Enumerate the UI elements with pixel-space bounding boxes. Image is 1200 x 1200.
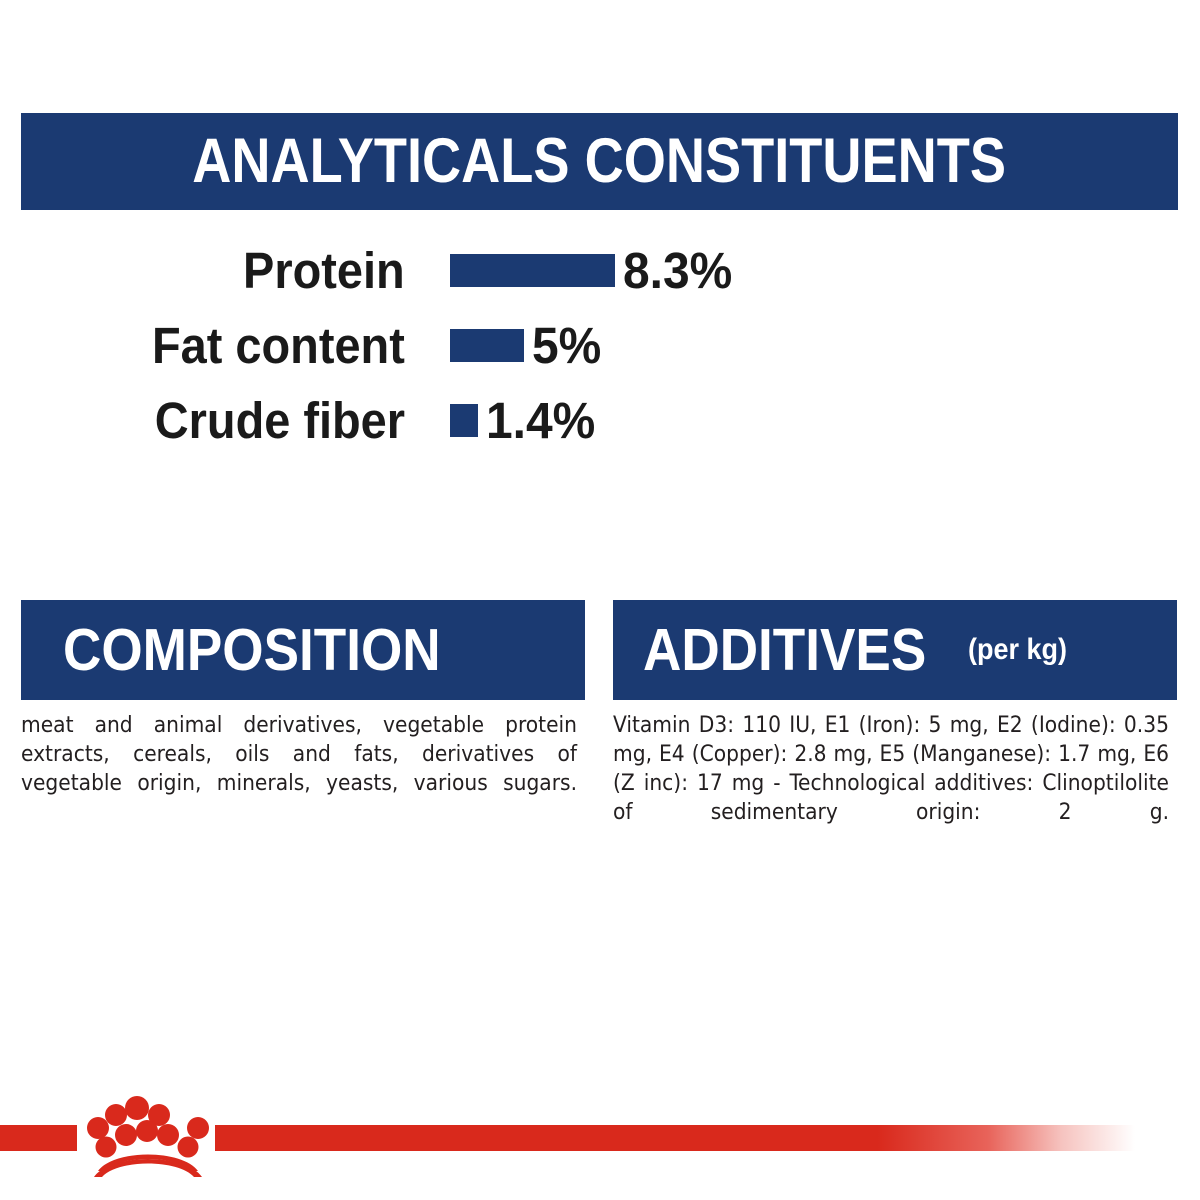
- composition-panel: COMPOSITION meat and animal derivatives,…: [21, 600, 585, 856]
- composition-title: COMPOSITION: [63, 621, 441, 680]
- nutrient-label: Crude fiber: [155, 393, 405, 449]
- nutrient-label: Fat content: [152, 318, 405, 374]
- nutrient-label: Protein: [243, 243, 405, 299]
- royal-canin-crown-logo: [86, 1095, 210, 1180]
- nutrient-value: 5%: [532, 318, 601, 374]
- nutrient-row: Crude fiber 1.4%: [0, 393, 1200, 468]
- nutrient-row: Fat content 5%: [0, 318, 1200, 393]
- page-title: ANALYTICALS CONSTITUENTS: [193, 130, 1007, 193]
- additives-panel: ADDITIVES (per kg) Vitamin D3: 110 IU, E…: [613, 600, 1177, 856]
- nutrient-value: 1.4%: [486, 393, 595, 449]
- footer: [0, 1120, 1200, 1160]
- additives-title: ADDITIVES: [643, 621, 926, 680]
- nutrient-row: Protein 8.3%: [0, 243, 1200, 318]
- nutrient-bar: [450, 329, 524, 362]
- detail-panels: COMPOSITION meat and animal derivatives,…: [21, 600, 1178, 856]
- nutrient-value: 8.3%: [623, 243, 732, 299]
- additives-subtitle: (per kg): [968, 635, 1067, 665]
- additives-text: Vitamin D3: 110 IU, E1 (Iron): 5 mg, E2 …: [613, 711, 1169, 856]
- composition-text: meat and animal derivatives, vegetable p…: [21, 711, 577, 827]
- analyticals-bar-chart: Protein 8.3% Fat content 5% Crude fiber …: [0, 243, 1200, 468]
- footer-rule-left: [0, 1125, 77, 1151]
- analyticals-constituents-header: ANALYTICALS CONSTITUENTS: [21, 113, 1178, 210]
- footer-rule-right: [215, 1125, 1135, 1151]
- composition-header: COMPOSITION: [21, 600, 585, 700]
- nutrient-bar: [450, 254, 615, 287]
- nutrition-panel-page: ANALYTICALS CONSTITUENTS Protein 8.3% Fa…: [0, 0, 1200, 1200]
- nutrient-bar: [450, 404, 478, 437]
- additives-header: ADDITIVES (per kg): [613, 600, 1177, 700]
